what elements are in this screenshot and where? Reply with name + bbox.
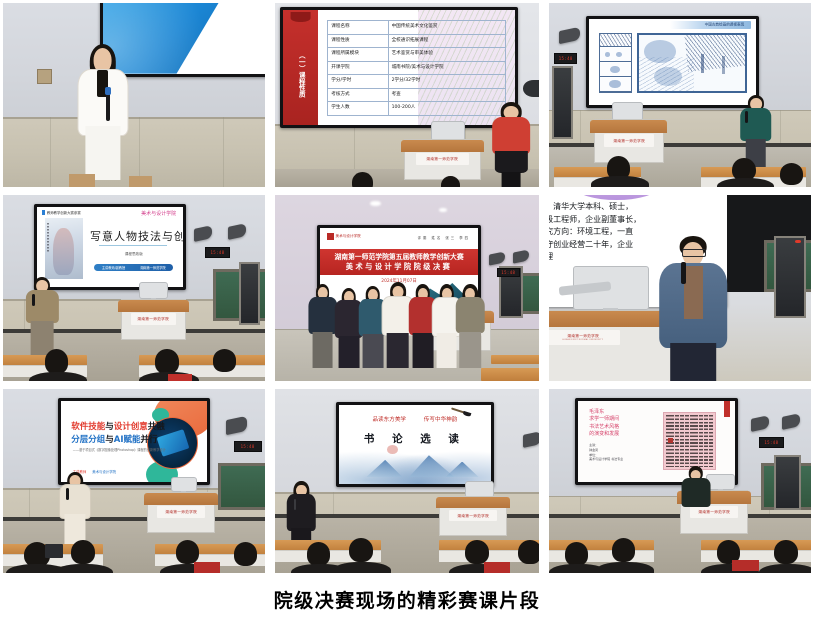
photo-grid: （一）课程性质 课程名称 中国传统美术文化鉴赏 课 <box>3 3 811 575</box>
headline-part: 软件技能 <box>71 422 105 432</box>
nameplate-cn: 湖南第一师范学院 <box>613 138 645 144</box>
projection-screen: 品读东方美学 传写中华神韵 书 论 选 读 <box>336 402 494 487</box>
status-indicator <box>795 240 800 244</box>
led-clock[interactable]: 15:48 <box>205 247 231 258</box>
podium: 湖南第一师范学院 <box>594 119 665 163</box>
slide-footer-pills: 主讲教师/副教授 湖南第一师范学院 <box>94 264 173 271</box>
podium: 湖南第一师范学院 <box>121 299 187 340</box>
presenter-jacket <box>26 290 58 323</box>
classroom-scene: 品读东方美学 传写中华神韵 书 论 选 读 湖南第一师范学院 <box>275 389 539 573</box>
pillar <box>722 56 725 74</box>
slide-logo: 美术与设计学院 <box>327 233 361 240</box>
projection-screen: （一）课程性质 课程名称 中国传统美术文化鉴赏 课 <box>280 7 518 128</box>
banner-line-2: 美术与设计学院院级决赛 <box>346 262 453 272</box>
led-clock[interactable]: 15:48 <box>234 441 262 452</box>
headline-part: AI赋能 <box>114 435 141 445</box>
storyboard-cell <box>600 78 632 92</box>
calligraphy-artwork <box>663 412 716 470</box>
table-cell-value: 2学分/32学时 <box>388 75 505 89</box>
side-cabinet <box>774 236 805 318</box>
pillar <box>701 54 704 73</box>
nameplate-cn: 湖南第一师范学院 <box>698 509 730 515</box>
slide-surface: 教师教学创新大赛参赛 美术与设计学院 写意人物技法与创作 课程思政版 主讲教师/… <box>37 207 183 287</box>
slide-logo: 美术与设计学院 <box>141 210 176 217</box>
audience-head <box>213 349 237 371</box>
slide-meta: 主讲： 钟金凤 单位： 美术与设计学院 书法专业 <box>589 443 623 462</box>
slide-accent-bar <box>724 401 730 417</box>
nameplate-cn: 湖南第一师范学院 <box>567 334 599 340</box>
headline-part: 并行 <box>141 435 158 445</box>
figure-blob <box>610 66 620 73</box>
presenter-jacket <box>287 494 316 531</box>
podium-top <box>436 497 511 509</box>
member-legs <box>386 333 409 368</box>
audience-shoulders <box>55 564 113 573</box>
table-cell-value: 城南书院/美术与设计学院 <box>388 61 505 75</box>
audience-head <box>612 538 636 562</box>
slide-subtitle: ——基于项目式《数字图像处理Photoshop》课程的创新教学设计 <box>73 447 166 452</box>
audience-shoulders <box>596 562 654 573</box>
storyboard-cell <box>600 48 632 62</box>
headline-part: 与 <box>105 435 114 445</box>
audience-head <box>45 349 69 373</box>
bio-line-2: 高级工程师，企业副董事长， <box>549 216 723 224</box>
artwork-inscription <box>47 223 49 253</box>
presenter-trousers <box>85 126 120 180</box>
presenter-figure <box>654 236 733 381</box>
table-cell-key: 学生人数 <box>328 102 388 116</box>
led-clock-time: 15:48 <box>764 440 778 445</box>
slide-title: 毛泽东 求学一师期间 书法艺术风格 的演变和发展 <box>589 409 619 438</box>
headline-part: 分层分组 <box>71 435 105 445</box>
ceiling-light <box>439 208 447 212</box>
calligraphy-column <box>709 415 713 467</box>
photo-row2-col2[interactable]: 15:48 美术与设计学院 评委 姓名 张三 李四 湖南第一师范学院第五届教师教… <box>275 195 539 381</box>
classroom-scene: 15:48 中国古典绘画的透视表现 <box>549 3 811 187</box>
audience-head <box>234 542 258 566</box>
podium-nameplate: 湖南第一师范学院 <box>157 506 205 518</box>
presenter-figure <box>71 42 134 178</box>
presenter-jacket <box>681 478 710 506</box>
slide-badge-text: 教师教学创新大赛参赛 <box>47 210 81 215</box>
microphone-head <box>105 87 111 95</box>
classroom-scene <box>3 3 265 187</box>
chip-graphic <box>156 429 189 457</box>
table-body: 课程名称 中国传统美术文化鉴赏 课程性质 全校通识拓展课程 课程所属模块 <box>328 21 505 116</box>
slide-sidebar: （一）课程性质 <box>283 10 318 125</box>
audience-shoulders <box>759 564 811 573</box>
audience-head <box>307 542 331 566</box>
table-cell-value: 100-200人 <box>388 102 505 116</box>
podium-nameplate: 湖南第一师范学院 <box>449 510 497 522</box>
microphone <box>66 488 68 500</box>
table-cell-key: 课程所属模块 <box>328 48 388 62</box>
audience-head <box>565 542 589 566</box>
classroom-scene: 15:48 美术与设计学院 评委 姓名 张三 李四 湖南第一师范学院第五届教师教… <box>275 195 539 381</box>
badge-marker-icon <box>42 210 45 215</box>
member-legs <box>460 332 482 368</box>
ceiling-light <box>370 201 381 207</box>
tile-seam <box>50 117 51 187</box>
podium-nameplate: 湖南第一师范学院 HUNAN FIRST NORMAL UNIVERSITY <box>549 330 620 344</box>
table-card <box>732 560 758 571</box>
led-clock-time: 15:48 <box>559 56 573 61</box>
table-row: 学生人数 100-200人 <box>328 102 505 116</box>
storyboard-main-illustration <box>637 33 747 93</box>
led-clock-time: 15:48 <box>501 270 515 275</box>
sun-accent <box>387 445 398 454</box>
banner-line-1: 湖南第一师范学院第五届教师教学创新大赛 <box>335 251 464 261</box>
table-row: 课程性质 全校通识拓展课程 <box>328 34 505 48</box>
desk-corner <box>129 176 153 187</box>
slide-title: 写意人物技法与创作 <box>90 228 178 244</box>
audience-shoulders <box>333 562 391 573</box>
podium-monitor <box>139 282 168 299</box>
member-top <box>456 297 485 333</box>
audience-head <box>518 540 539 564</box>
photo-row3-col2[interactable]: 品读东方美学 传写中华神韵 书 论 选 读 湖南第一师范学院 <box>275 389 539 573</box>
presenter-jacket <box>492 117 530 154</box>
audience-head <box>176 540 200 564</box>
table-cell-value: 艺术鉴赏与审美体验 <box>388 48 505 62</box>
tree-blob <box>644 40 676 62</box>
pill-presenter: 主讲教师/副教授 <box>102 265 125 270</box>
calligraphy-column <box>694 415 698 467</box>
group-member <box>455 284 487 366</box>
projection-screen: 毛泽东 求学一师期间 书法艺术风格 的演变和发展 主讲： 钟金凤 单位： 美术与… <box>575 398 737 484</box>
calligraphy-column <box>685 415 689 467</box>
classroom-scene: 15:48 毛泽东 求学一师期间 书法艺术风格 的演变和发展 主讲： <box>549 389 811 573</box>
slide-surface: 品读东方美学 传写中华神韵 书 论 选 读 <box>339 405 491 484</box>
table-cell-key: 开课学院 <box>328 61 388 75</box>
podium-top <box>144 493 218 505</box>
podium-monitor <box>431 121 465 141</box>
slide-headline-1: 软件技能与设计创意共融 <box>71 420 165 432</box>
table-row: 学分/学时 2学分/32学时 <box>328 75 505 89</box>
podium-nameplate: 湖南第一师范学院 <box>416 153 470 165</box>
audience-shoulders <box>29 372 87 381</box>
presenter-trousers <box>670 343 716 381</box>
table-cell-value: 全校通识拓展课程 <box>388 34 505 48</box>
nameplate-cn: 湖南第一师范学院 <box>457 513 489 519</box>
photo-row1-col1[interactable] <box>3 3 265 187</box>
led-clock-time: 15:48 <box>211 250 225 255</box>
table-cell-key: 考核方式 <box>328 88 388 102</box>
slide-sidebar-label: （一）课程性质 <box>297 52 304 98</box>
microphone <box>681 262 687 284</box>
title-line-2: 求学一师期间 <box>589 416 619 423</box>
podium: 湖南第一师范学院 <box>404 139 481 179</box>
podium: 湖南第一师范学院 <box>439 496 508 536</box>
classroom-scene: 清华大学本科、硕士， 高级工程师，企业副董事长， 研究方向：环境工程，一直 坚守… <box>549 195 811 381</box>
audience-head <box>352 172 373 187</box>
footer-institution: 美术与设计学院 <box>92 470 116 474</box>
podium-nameplate: 湖南第一师范学院 <box>690 506 738 519</box>
slide-badge: 教师教学创新大赛参赛 <box>42 210 81 215</box>
podium-top <box>118 300 189 312</box>
crowd-blob <box>654 67 682 86</box>
eyebrow-left: 品读东方美学 <box>372 417 406 423</box>
table-card <box>168 374 192 381</box>
slide-title: 书 论 选 读 <box>339 431 491 446</box>
slide-surface: （一）课程性质 课程名称 中国传统美术文化鉴赏 课 <box>283 10 515 125</box>
speaker-icon <box>523 80 539 97</box>
slide-banner: 湖南第一师范学院第五届教师教学创新大赛 美术与设计学院院级决赛 <box>320 249 478 275</box>
led-clock[interactable]: 15:48 <box>759 437 785 448</box>
microphone <box>294 499 296 510</box>
headline-part: 与 <box>105 422 114 432</box>
calligraphy-column <box>675 415 679 467</box>
podium: 湖南第一师范学院 <box>147 492 215 532</box>
meta-line-4: 美术与设计学院 书法专业 <box>589 457 623 462</box>
artwork-figure <box>53 228 74 275</box>
audience-head <box>71 540 95 564</box>
slide-divider <box>99 245 168 246</box>
storyboard-strip <box>599 33 633 93</box>
headline-part: 设计创意 <box>114 422 148 432</box>
headline-part: 共融 <box>148 422 165 432</box>
table-row: 课程名称 中国传统美术文化鉴赏 <box>328 21 505 35</box>
bio-line-1: 清华大学本科、硕士， <box>549 203 723 211</box>
photo-row3-col1[interactable]: 15:48 软件技能与设计创意共融 <box>3 389 265 573</box>
microphone <box>106 91 110 121</box>
slide-header-bar: 中国古典绘画的透视表现 <box>670 21 750 29</box>
course-info-table: 课程名称 中国传统美术文化鉴赏 课程性质 全校通识拓展课程 课程所属模块 <box>327 20 505 116</box>
nameplate-cn: 湖南第一师范学院 <box>165 509 197 515</box>
hatch-texture <box>600 34 632 47</box>
page-root: （一）课程性质 课程名称 中国传统美术文化鉴赏 课 <box>0 0 814 627</box>
podium-nameplate: 湖南第一师范学院 <box>604 134 653 147</box>
calligraphy-column <box>699 415 703 467</box>
slide-artwork <box>45 218 83 278</box>
wall-divider <box>3 117 265 119</box>
glasses-icon <box>682 249 706 257</box>
podium-top <box>590 120 667 133</box>
table-cell-key: 课程名称 <box>328 21 388 35</box>
slide-logo-text: 美术与设计学院 <box>336 234 361 239</box>
member-legs <box>312 332 333 368</box>
slide-table-wrapper: 课程名称 中国传统美术文化鉴赏 课程性质 全校通识拓展课程 课程所属模块 <box>327 20 505 116</box>
table-cell-key: 课程性质 <box>328 34 388 48</box>
podium-monitor <box>171 477 197 492</box>
calligraphy-column <box>680 415 684 467</box>
classroom-scene: 15:48 教师教学创新大赛参赛 美术与设计学院 <box>3 195 265 381</box>
storyboard-cell <box>600 63 632 77</box>
slide-eyebrow: 品读东方美学 传写中华神韵 <box>339 415 491 423</box>
seal-icon <box>668 438 673 443</box>
table-row: 开课学院 城南书院/美术与设计学院 <box>328 61 505 75</box>
blackboard <box>218 463 265 511</box>
figure-blob <box>609 80 620 88</box>
slide-surface: 中国古典绘画的透视表现 <box>589 19 756 105</box>
ink-wash-landscape <box>339 443 491 484</box>
photo-row2-col3[interactable]: 清华大学本科、硕士， 高级工程师，企业副董事长， 研究方向：环境工程，一直 坚守… <box>549 195 811 381</box>
audience-bench <box>481 368 539 381</box>
table-card <box>194 562 220 573</box>
presenter-skirt <box>495 151 527 173</box>
tile-seam <box>223 117 224 187</box>
led-clock[interactable]: 15:48 <box>554 53 577 64</box>
presenter-figure <box>24 277 61 355</box>
side-cabinet <box>552 66 573 140</box>
audience-head <box>349 538 373 562</box>
audience-head <box>155 349 179 373</box>
calligraphy-column <box>704 415 708 467</box>
photo-row1-col3[interactable]: 15:48 中国古典绘画的透视表现 <box>549 3 811 187</box>
nameplate-cn: 湖南第一师范学院 <box>138 316 170 322</box>
classroom-scene: （一）课程性质 课程名称 中国传统美术文化鉴赏 课 <box>275 3 539 187</box>
presenter-shirt <box>684 266 703 318</box>
audience-head <box>774 540 798 564</box>
led-clock-time: 15:48 <box>241 444 255 449</box>
nameplate-cn: 湖南第一师范学院 <box>427 156 459 162</box>
presenter-legs <box>502 172 521 187</box>
nameplate-en: HUNAN FIRST NORMAL UNIVERSITY <box>562 339 603 341</box>
side-cabinet <box>774 455 800 510</box>
presenter-figure <box>58 472 92 546</box>
slide-subtitle: 课程思政版 <box>90 252 178 257</box>
table-card <box>484 562 510 573</box>
classroom-scene: 15:48 软件技能与设计创意共融 <box>3 389 265 573</box>
podium-top <box>401 140 484 152</box>
photo-row1-col2[interactable]: （一）课程性质 课程名称 中国传统美术文化鉴赏 课 <box>275 3 539 187</box>
microphone <box>745 111 748 123</box>
eyebrow-right: 传写中华神韵 <box>424 417 458 423</box>
phone-icon <box>45 544 63 559</box>
calligraphy-column <box>690 415 694 467</box>
audience-bench <box>491 355 539 364</box>
slide-headline-2: 分层分组与AI赋能并行 <box>71 433 157 445</box>
audience-head <box>441 176 459 187</box>
table-cell-value: 中国传统美术文化鉴赏 <box>388 21 505 35</box>
audience-head <box>465 540 489 564</box>
logo-mark-icon <box>327 233 334 240</box>
table-cell-value: 考查 <box>388 88 505 102</box>
desk-corner <box>69 174 95 187</box>
storyboard-cell <box>600 34 632 48</box>
photo-row3-col3[interactable]: 15:48 毛泽东 求学一师期间 书法艺术风格 的演变和发展 主讲： <box>549 389 811 573</box>
projection-screen: 中国古典绘画的透视表现 <box>586 16 759 108</box>
pill-institution: 湖南第一师范学院 <box>140 265 166 270</box>
microphone <box>32 294 35 306</box>
figure-blob <box>605 52 610 56</box>
slide-header-text: 中国古典绘画的透视表现 <box>705 23 745 28</box>
title-line-3: 书法艺术风格 <box>589 424 619 431</box>
emblem-icon <box>290 12 311 22</box>
figure-caption: 院级决赛现场的精彩赛课片段 <box>0 586 814 613</box>
audience-head <box>780 163 804 185</box>
title-line-4: 的演变和发展 <box>589 431 619 438</box>
slide-names: 评委 姓名 张三 李四 <box>418 235 470 240</box>
table-row: 课程所属模块 艺术鉴赏与审美体验 <box>328 48 505 62</box>
led-clock[interactable]: 15:48 <box>497 268 520 277</box>
presenter-figure <box>680 466 711 506</box>
audience-shoulders <box>591 176 649 187</box>
figure-blob <box>616 52 622 57</box>
table-cell-key: 学分/学时 <box>328 75 388 89</box>
table-row: 考核方式 考查 <box>328 88 505 102</box>
slide-surface: 软件技能与设计创意共融 分层分组与AI赋能并行 ——基于项目式《数字图像处理Ph… <box>61 401 207 481</box>
podium-nameplate: 湖南第一师范学院 <box>131 313 177 325</box>
wall-outlet <box>37 69 52 84</box>
side-cabinet <box>239 262 260 325</box>
presenter-figure <box>489 102 534 187</box>
photo-row2-col1[interactable]: 15:48 教师教学创新大赛参赛 美术与设计学院 <box>3 195 265 381</box>
